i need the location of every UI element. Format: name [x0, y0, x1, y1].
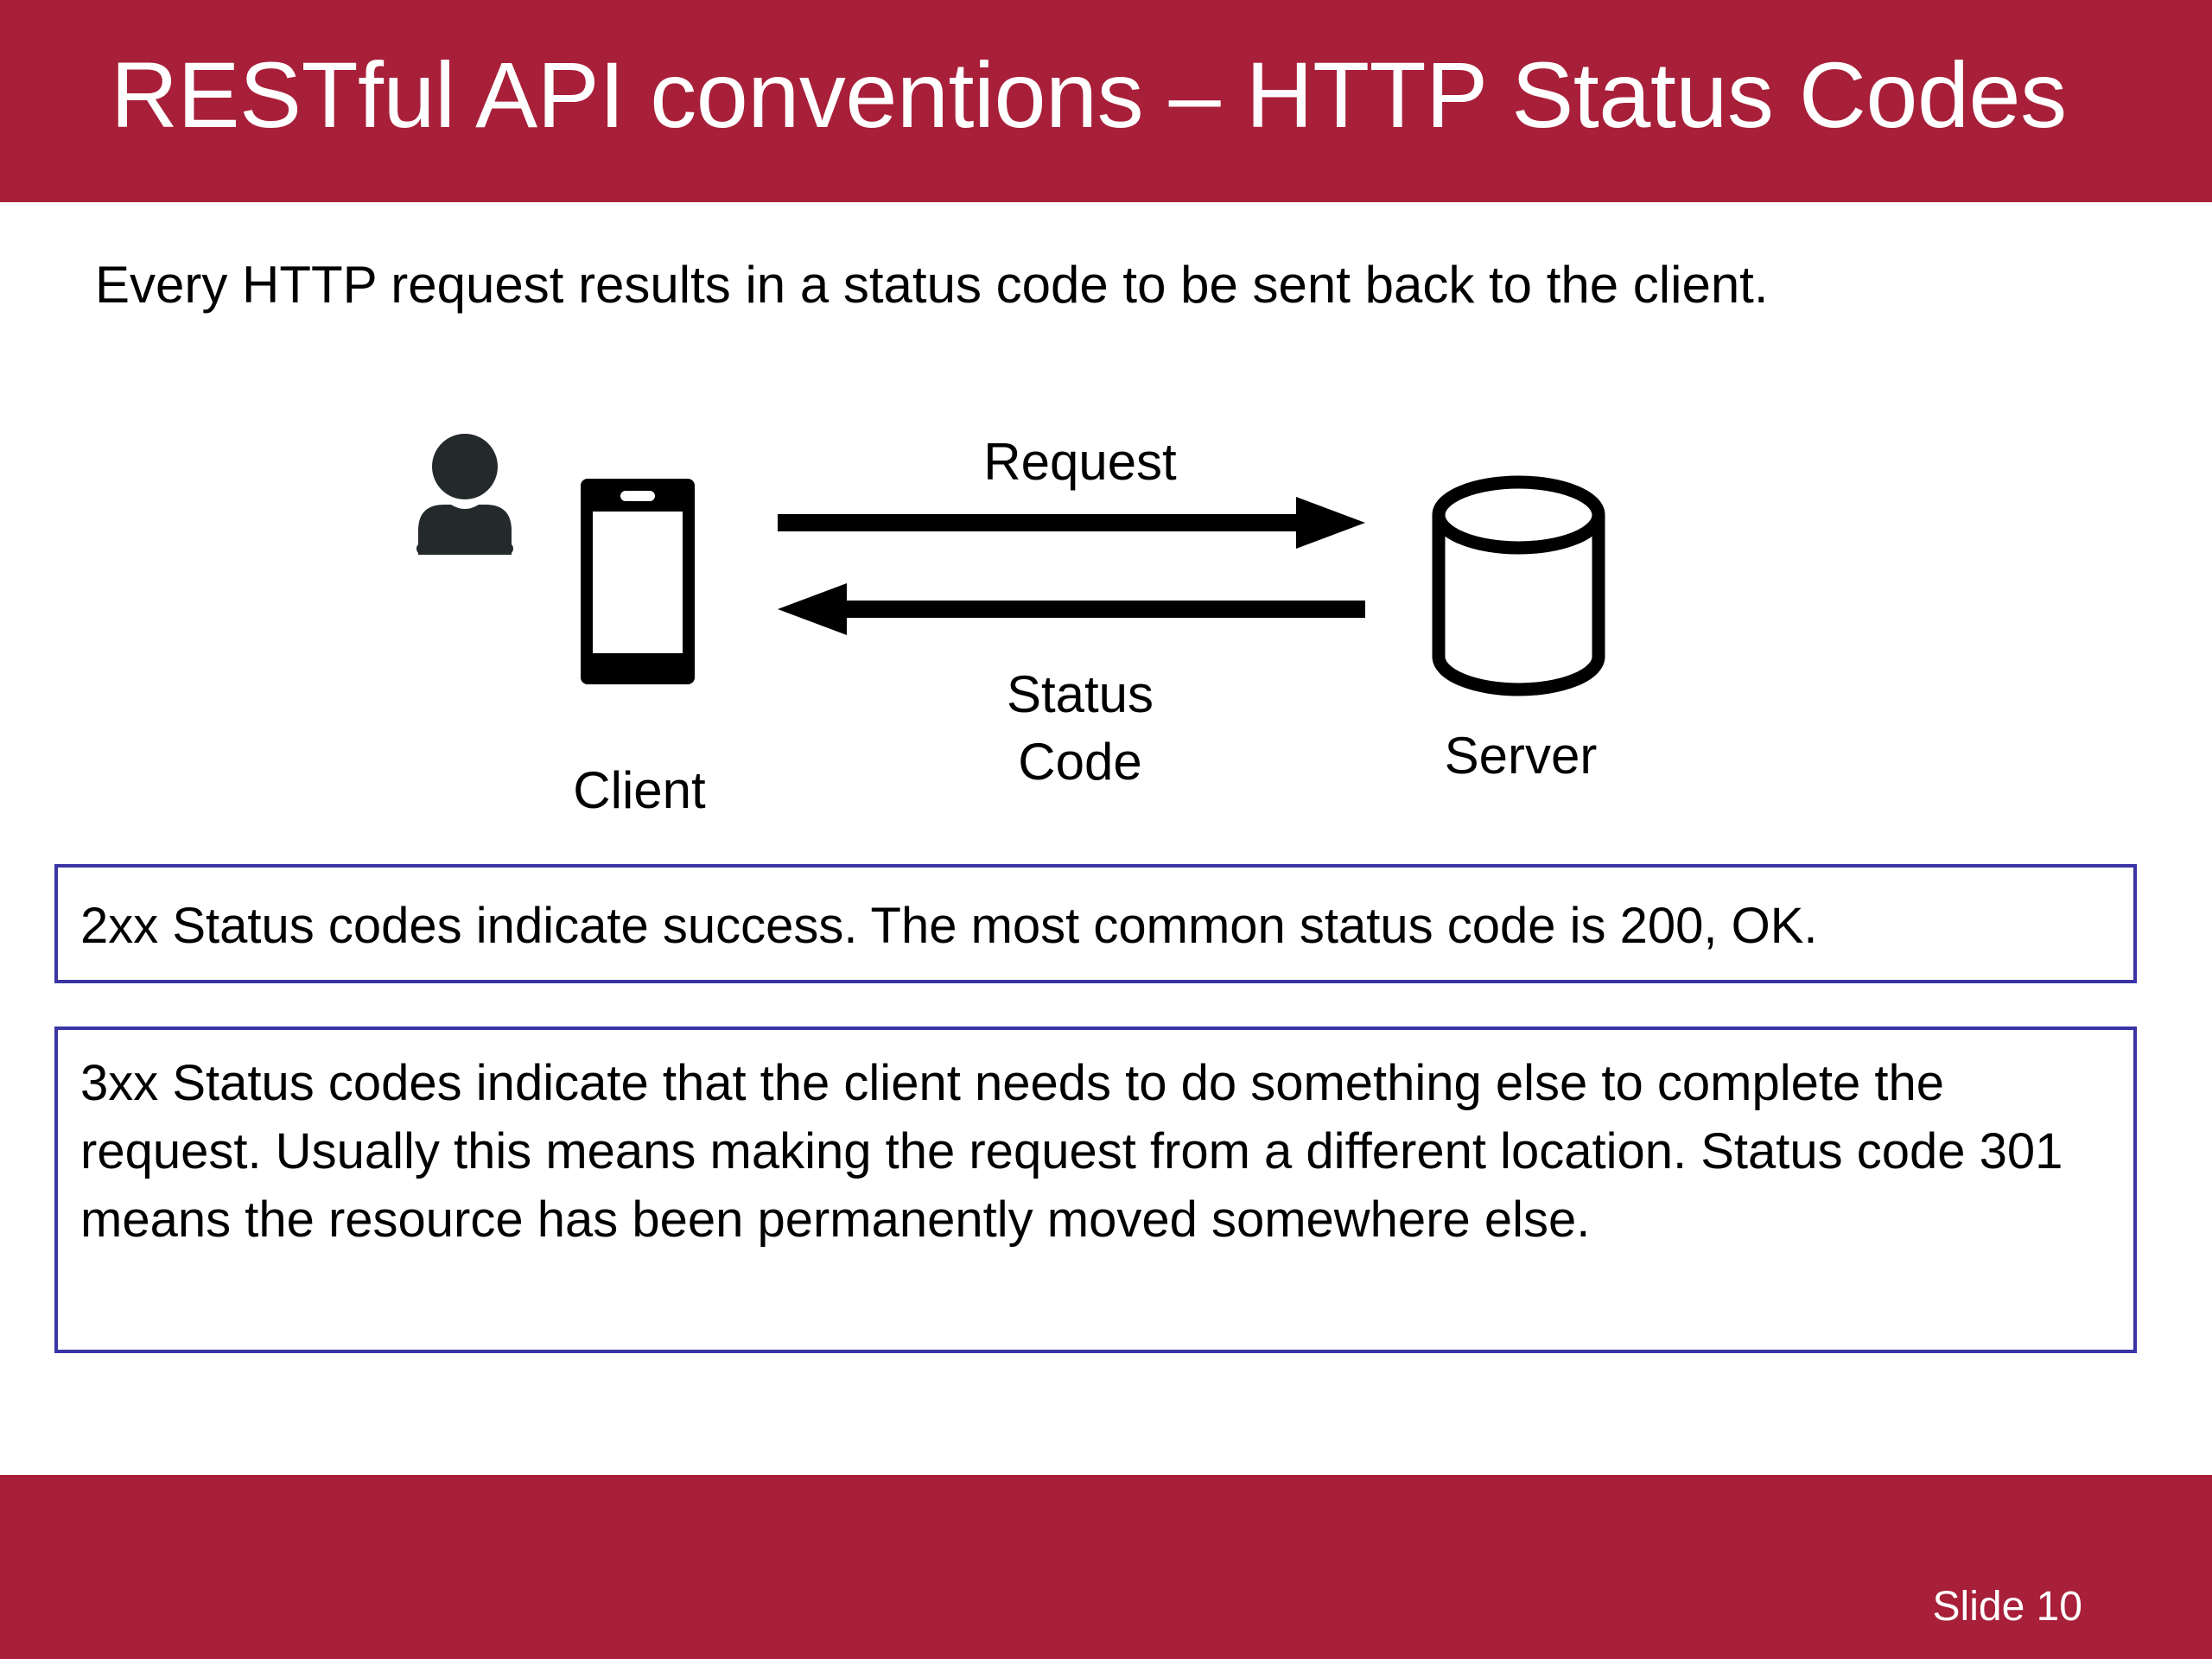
- arrow-right-icon: [778, 497, 1365, 549]
- callout-box-2xx: 2xx Status codes indicate success. The m…: [54, 864, 2137, 983]
- callout-text-2xx: 2xx Status codes indicate success. The m…: [80, 892, 2111, 960]
- slide-canvas: RESTful API conventions – HTTP Status Co…: [0, 0, 2212, 1659]
- database-cylinder-icon: [1430, 474, 1607, 698]
- mobile-phone-icon: [579, 477, 696, 686]
- footer-band: Slide 10: [0, 1475, 2212, 1659]
- person-icon: [413, 434, 517, 555]
- intro-sentence: Every HTTP request results in a status c…: [95, 255, 1769, 315]
- client-label: Client: [518, 760, 760, 820]
- callout-text-3xx: 3xx Status codes indicate that the clien…: [80, 1049, 2111, 1254]
- arrow-left-icon: [769, 583, 1365, 635]
- slide-number: Slide 10: [1933, 1583, 2082, 1630]
- callout-box-3xx: 3xx Status codes indicate that the clien…: [54, 1027, 2137, 1353]
- request-label: Request: [812, 432, 1348, 492]
- status-code-label-line2: Code: [812, 728, 1348, 796]
- page-title: RESTful API conventions – HTTP Status Co…: [111, 26, 2167, 164]
- server-label: Server: [1382, 726, 1659, 785]
- status-code-label-line1: Status: [812, 661, 1348, 728]
- status-code-label: Status Code: [812, 661, 1348, 796]
